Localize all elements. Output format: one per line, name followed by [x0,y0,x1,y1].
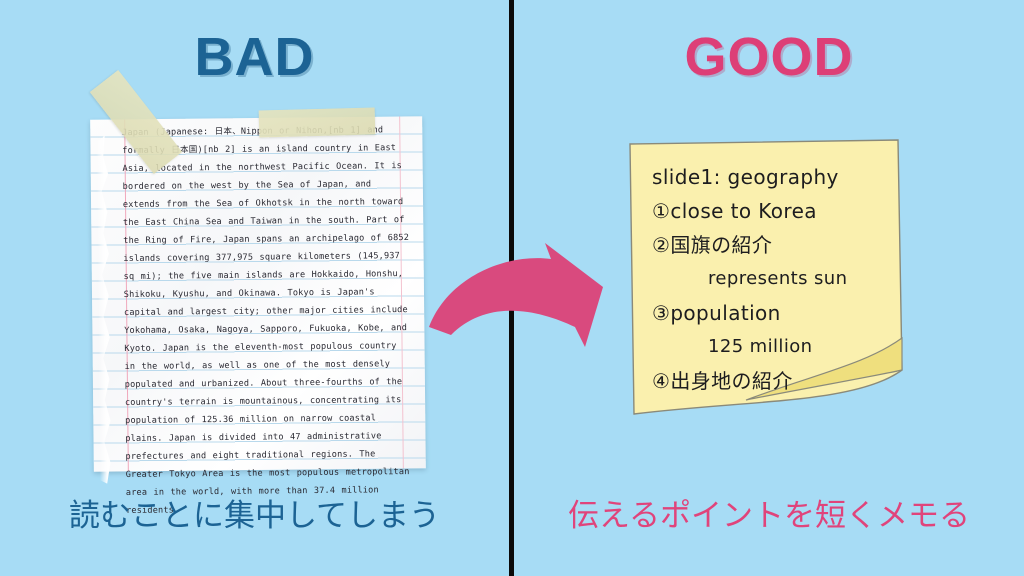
tape-piece-right [259,107,376,137]
page-title-good: GOOD [514,30,1024,84]
sticky-note: slide1: geography ①close to Korea ②国旗の紹介… [626,138,906,420]
note-line: 125 million [652,330,902,364]
paper-body-text: Japan (Japanese: 日本、Nippon or Nihon,[nb … [122,121,414,520]
note-line: ④出身地の紹介 [652,364,902,398]
page-title-bad: BAD [0,30,509,84]
note-line: represents sun [652,262,902,296]
caption-bad: 読むことに集中してしまう [0,497,509,534]
sticky-note-text: slide1: geography ①close to Korea ②国旗の紹介… [652,160,902,398]
slide-canvas: BAD GOOD Japan (Japanese: 日本、Nippon or N… [0,0,1024,576]
note-line: ③population [652,296,902,330]
note-line: ①close to Korea [652,194,902,228]
curved-arrow-icon [425,235,615,355]
note-line: ②国旗の紹介 [652,228,902,262]
handwritten-paper: Japan (Japanese: 日本、Nippon or Nihon,[nb … [82,104,434,476]
paper-torn-edge [96,136,112,484]
note-line: slide1: geography [652,160,902,194]
caption-good: 伝えるポイントを短くメモる [514,497,1024,534]
